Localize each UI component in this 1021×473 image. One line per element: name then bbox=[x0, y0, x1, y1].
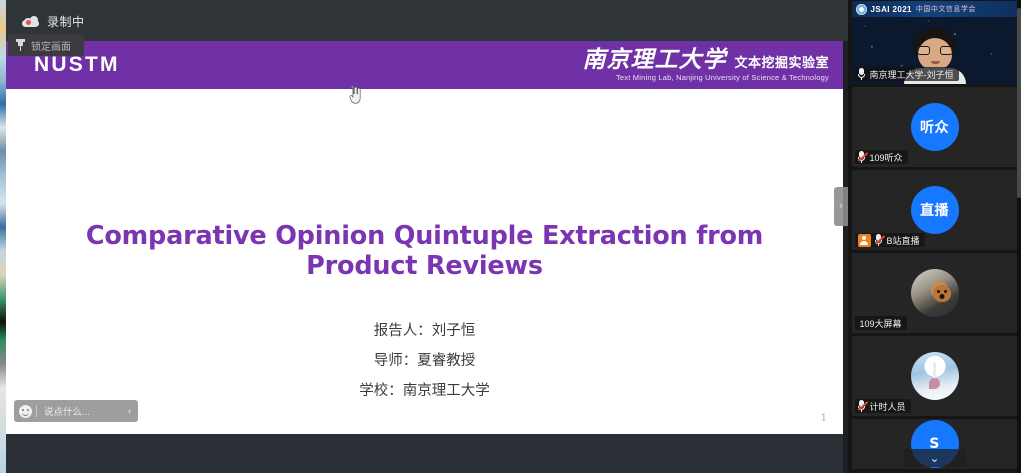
lock-screen-button[interactable]: 锁定画面 bbox=[8, 34, 84, 56]
participant-sidebar[interactable]: JSAI 2021 中国中文信息学会 南京理工大学-刘子恒 听众 bbox=[848, 0, 1021, 473]
stage-footer-band bbox=[6, 436, 843, 473]
chat-input[interactable]: 说点什么... bbox=[37, 404, 121, 418]
meta-advisor: 导师：夏睿教授 bbox=[6, 346, 843, 376]
pin-icon bbox=[16, 39, 25, 51]
cloud-recording-icon bbox=[22, 16, 39, 27]
avatar-label: 听众 bbox=[920, 117, 949, 137]
participant-name-chip: 109大屏幕 bbox=[855, 316, 907, 330]
nustm-logo: NUSTM bbox=[34, 53, 120, 77]
avatar bbox=[911, 269, 959, 317]
sidebar-scrollbar[interactable] bbox=[1017, 0, 1021, 473]
emoji-icon[interactable] bbox=[14, 405, 36, 418]
microphone-muted-icon bbox=[858, 151, 866, 163]
jsai-banner: JSAI 2021 中国中文信息学会 bbox=[852, 1, 1018, 17]
recording-label: 录制中 bbox=[47, 13, 85, 30]
microphone-muted-icon bbox=[858, 400, 866, 412]
chevron-down-icon: ⌄ bbox=[929, 451, 939, 465]
host-badge-icon bbox=[858, 234, 871, 247]
lock-screen-label: 锁定画面 bbox=[31, 38, 71, 53]
meeting-top-toolbar: 录制中 bbox=[6, 0, 848, 41]
lab-university-name-cn: 南京理工大学 bbox=[582, 48, 726, 71]
jsai-seal-icon bbox=[856, 4, 867, 15]
participant-tile-speaker[interactable]: JSAI 2021 中国中文信息学会 南京理工大学-刘子恒 bbox=[852, 1, 1018, 84]
participant-tile-next[interactable]: S ⌄ bbox=[852, 419, 1018, 469]
meta-speaker: 报告人：刘子恒 bbox=[6, 316, 843, 346]
avatar-label: 直播 bbox=[920, 200, 949, 220]
scrollbar-thumb[interactable] bbox=[1017, 8, 1021, 198]
participant-name-chip: 109听众 bbox=[855, 150, 908, 164]
jsai-banner-subtitle: 中国中文信息学会 bbox=[916, 4, 976, 14]
recording-indicator: 录制中 bbox=[22, 11, 85, 31]
scroll-down-button[interactable]: ⌄ bbox=[904, 449, 966, 467]
lab-name-cn: 文本挖掘实验室 bbox=[734, 57, 829, 70]
participant-name-chip: 计时人员 bbox=[855, 399, 911, 413]
participant-tile-livestream[interactable]: 直播 B站直播 bbox=[852, 170, 1018, 250]
shared-screen-stage: 录制中 锁定画面 NUSTM 南京理工大学 文本挖掘实验室 Tex bbox=[0, 0, 848, 473]
chat-collapse-button[interactable]: ‹ bbox=[121, 406, 138, 417]
participant-name: 109听众 bbox=[870, 151, 903, 164]
browser-edge-strip bbox=[0, 0, 6, 473]
participant-tile-audience[interactable]: 听众 109听众 bbox=[852, 87, 1018, 167]
lab-name-en: Text Mining Lab, Nanjing University of S… bbox=[616, 74, 829, 82]
participant-name-chip: 南京理工大学-刘子恒 bbox=[855, 67, 959, 81]
participant-name: 计时人员 bbox=[870, 400, 906, 413]
shared-slide[interactable]: NUSTM 南京理工大学 文本挖掘实验室 Text Mining Lab, Na… bbox=[6, 41, 843, 434]
avatar bbox=[911, 352, 959, 400]
participant-tile-bigscreen[interactable]: 109大屏幕 bbox=[852, 253, 1018, 333]
participant-name-chip: B站直播 bbox=[855, 233, 925, 247]
jsai-banner-title: JSAI 2021 bbox=[871, 5, 912, 14]
lab-branding: 南京理工大学 文本挖掘实验室 Text Mining Lab, Nanjing … bbox=[582, 48, 829, 82]
meeting-app: 录制中 锁定画面 NUSTM 南京理工大学 文本挖掘实验室 Tex bbox=[0, 0, 1021, 473]
participant-name: 南京理工大学-刘子恒 bbox=[870, 68, 954, 81]
presentation-meta: 报告人：刘子恒 导师：夏睿教授 学校：南京理工大学 bbox=[6, 316, 843, 406]
slide-body: Comparative Opinion Quintuple Extraction… bbox=[6, 89, 843, 434]
participant-tile-timekeeper[interactable]: 计时人员 bbox=[852, 336, 1018, 416]
avatar: 听众 bbox=[911, 103, 959, 151]
chevron-right-icon: › bbox=[839, 201, 843, 212]
participant-name: 109大屏幕 bbox=[860, 317, 902, 330]
slide-page-number: 1 bbox=[821, 413, 827, 424]
participant-name: B站直播 bbox=[887, 234, 920, 247]
panel-expand-handle[interactable]: › bbox=[834, 187, 848, 226]
slide-header-bar: NUSTM 南京理工大学 文本挖掘实验室 Text Mining Lab, Na… bbox=[6, 41, 843, 89]
presentation-title: Comparative Opinion Quintuple Extraction… bbox=[6, 221, 843, 281]
avatar: 直播 bbox=[911, 186, 959, 234]
microphone-muted-icon bbox=[875, 234, 883, 246]
chat-composer[interactable]: 说点什么... ‹ bbox=[14, 400, 138, 422]
microphone-icon bbox=[858, 68, 866, 80]
